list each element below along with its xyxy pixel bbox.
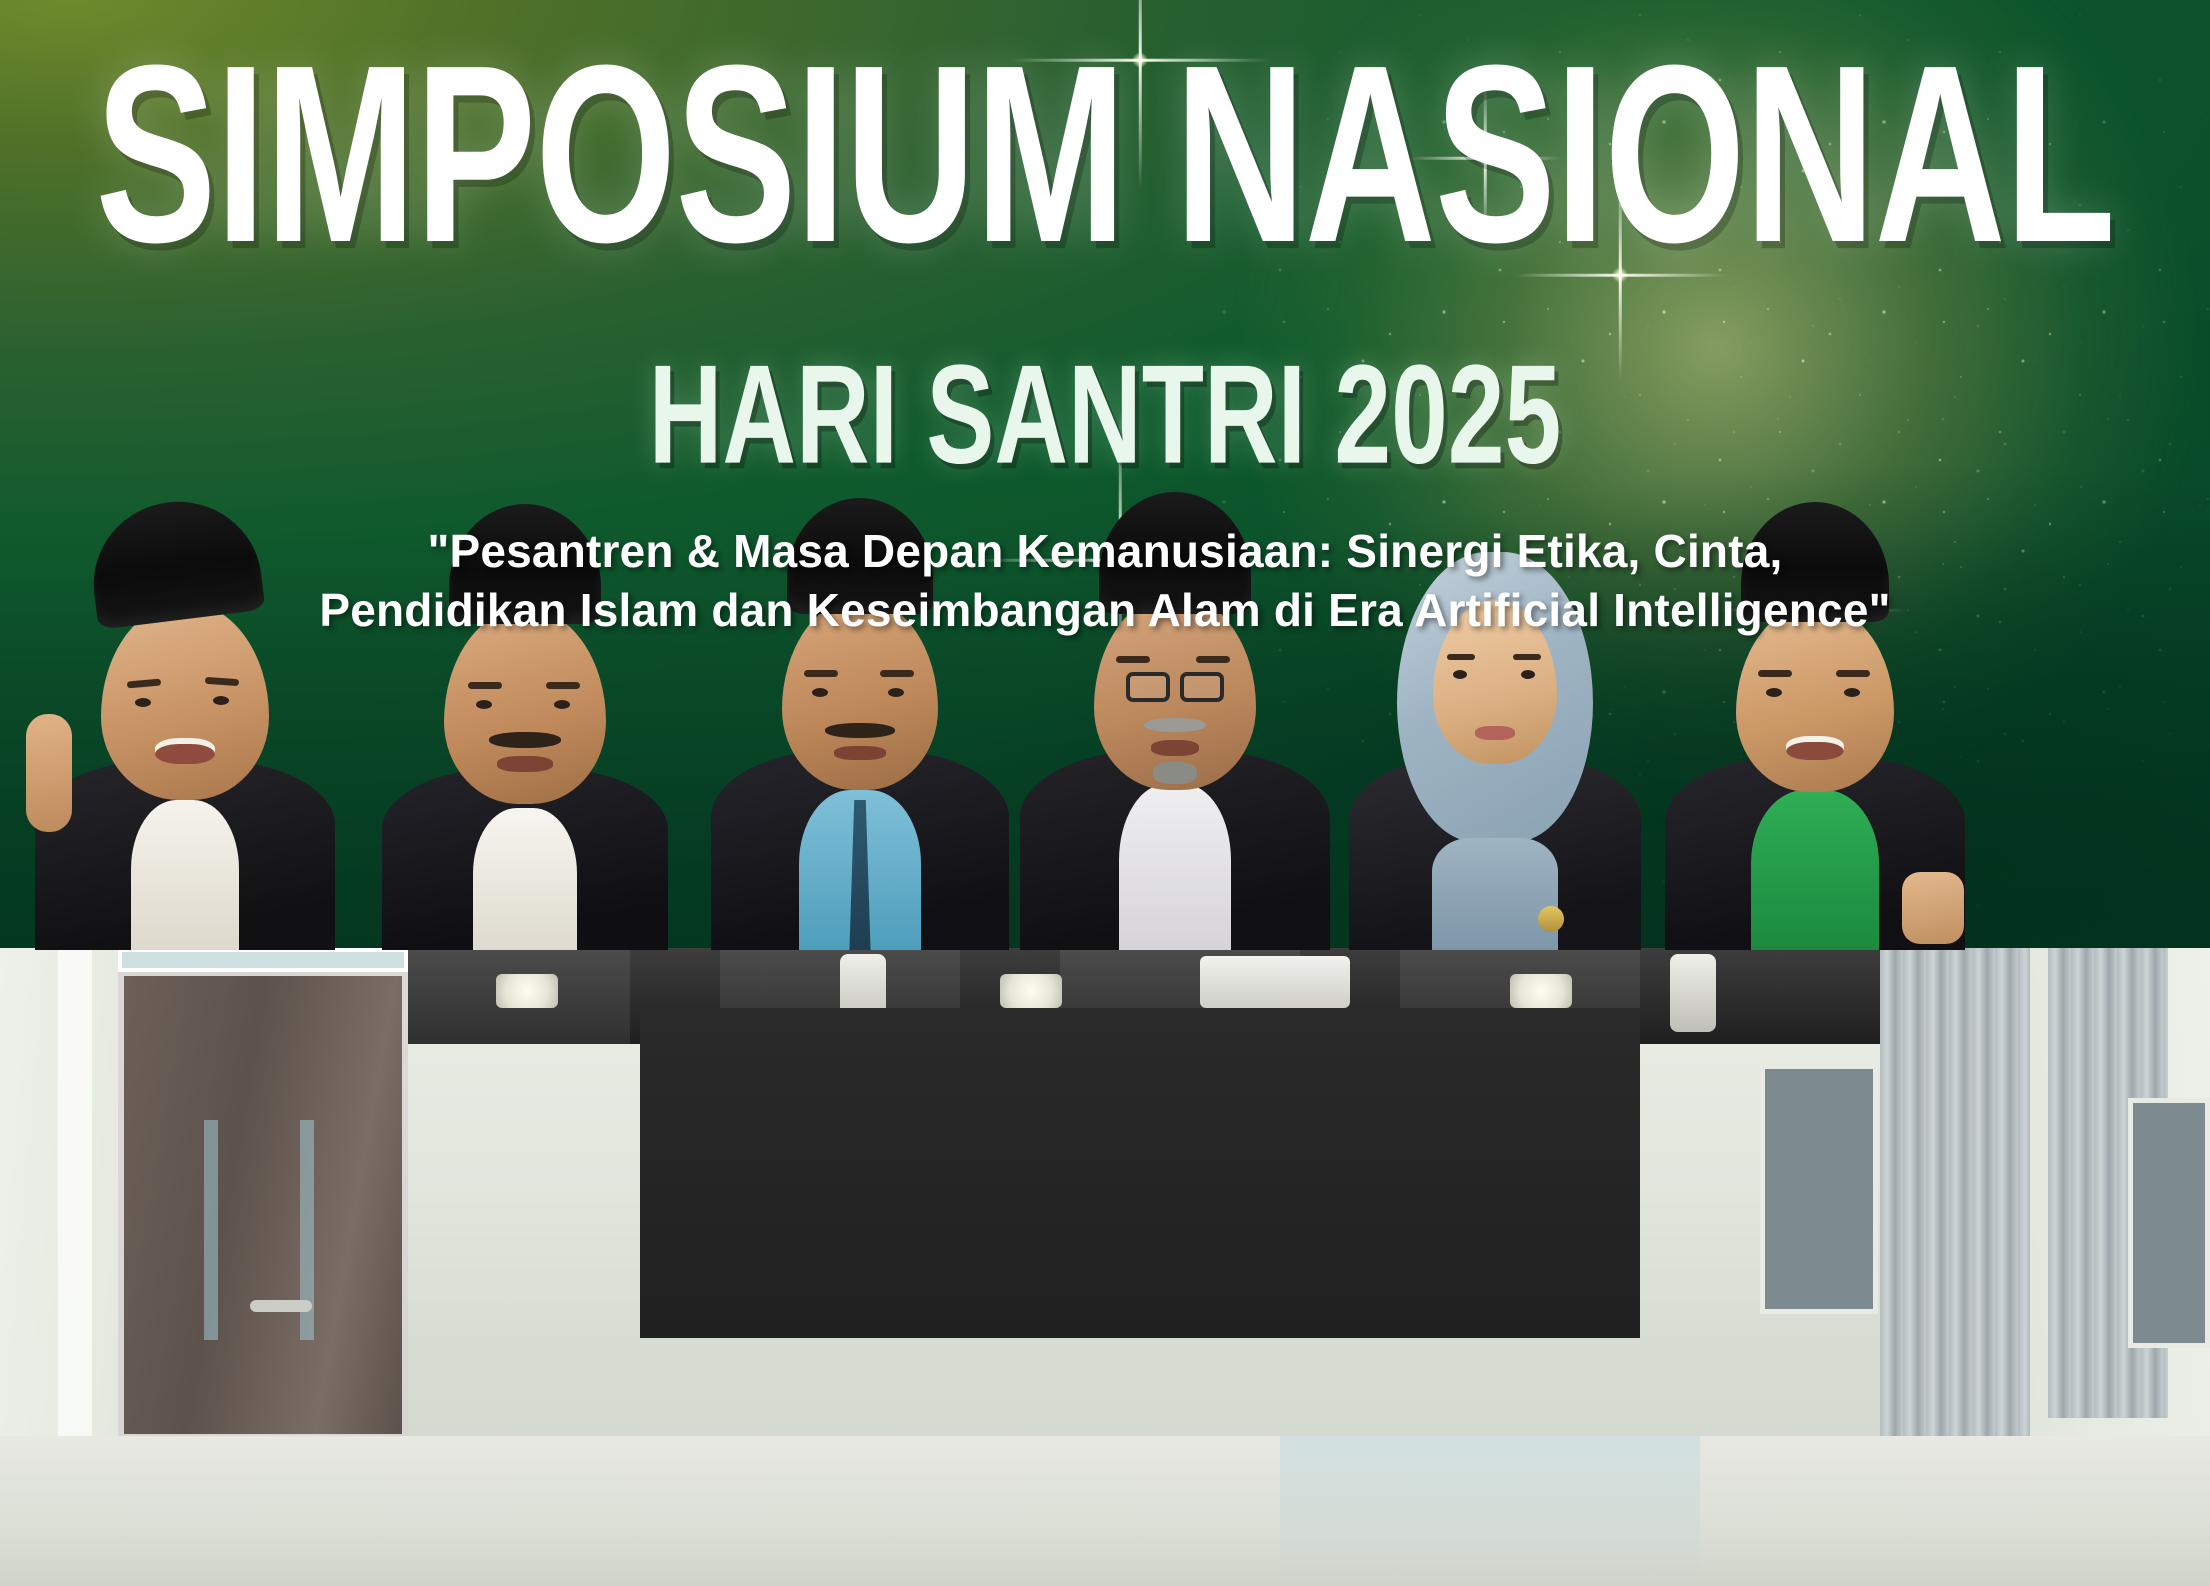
speaker-shirt: [1751, 790, 1879, 950]
tagline-line-2: Pendidikan Islam dan Keseimbangan Alam d…: [170, 581, 2040, 640]
lapel-pin-icon: [1538, 906, 1564, 932]
speaker-shirt: [1119, 784, 1231, 950]
window: [2128, 1098, 2210, 1348]
tagline: "Pesantren & Masa Depan Kemanusiaan: Sin…: [0, 522, 2210, 640]
auditorium-photo: [0, 948, 2210, 1586]
hall-floor: [0, 1436, 2210, 1586]
speaker-shirt: [131, 800, 239, 950]
entrance-door[interactable]: [118, 970, 408, 1440]
ceiling-speaker-icon: [1670, 954, 1716, 1032]
title-block: SIMPOSIUM NASIONAL HARI SANTRI 2025 "Pes…: [0, 0, 2210, 640]
page-title: SIMPOSIUM NASIONAL: [0, 28, 2210, 281]
window: [1760, 1064, 1878, 1314]
eyeglasses-icon: [1126, 672, 1224, 702]
hijab-drape: [1432, 838, 1558, 950]
page-subtitle: HARI SANTRI 2025: [0, 344, 2210, 485]
tagline-line-1: "Pesantren & Masa Depan Kemanusiaan: Sin…: [427, 525, 1782, 577]
door-handle-icon[interactable]: [250, 1300, 312, 1312]
raised-hand-icon: [26, 714, 72, 832]
air-conditioner-icon: [1200, 956, 1350, 1008]
wall-pillar: [58, 948, 92, 1508]
window-curtain: [1880, 948, 2030, 1468]
stage-back-wall: [640, 1008, 1640, 1338]
poster-root: SIMPOSIUM NASIONAL HARI SANTRI 2025 "Pes…: [0, 0, 2210, 1586]
speaker-shirt: [473, 808, 577, 950]
clenched-fist-icon: [1902, 872, 1964, 944]
